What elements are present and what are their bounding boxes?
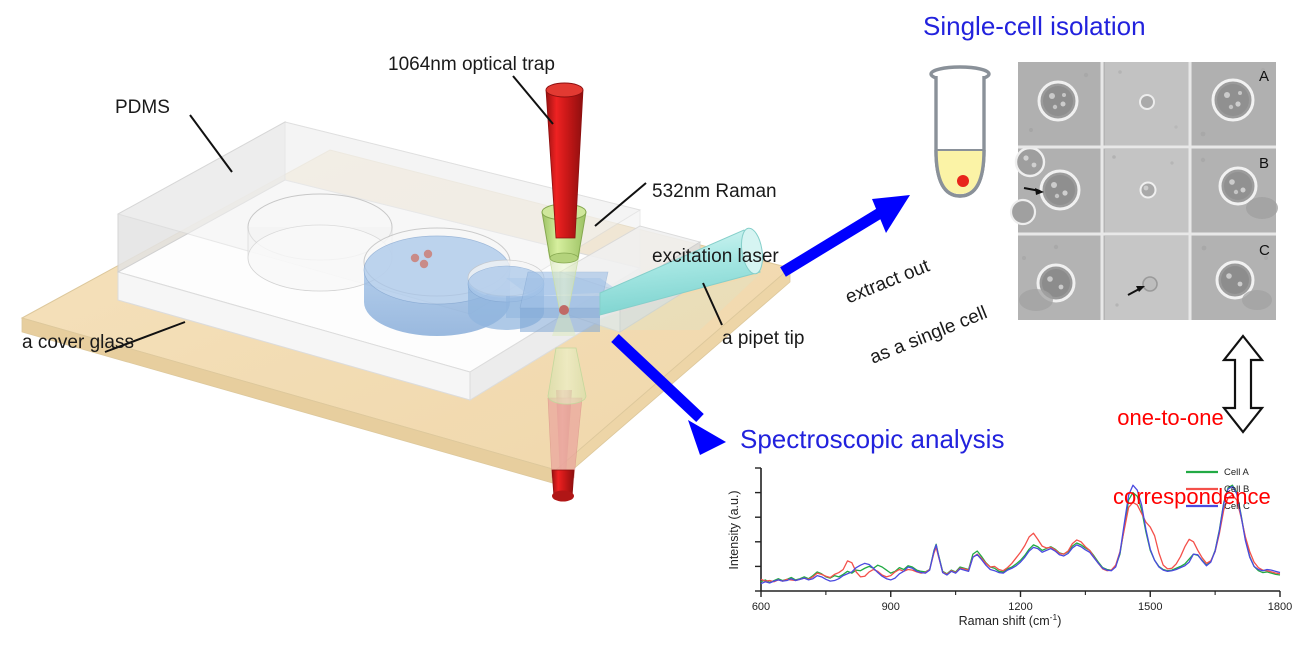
- trapped-cell-dot: [559, 305, 569, 315]
- chart-xtick-600: 600: [752, 601, 770, 613]
- micrograph-row-label-c: C: [1259, 242, 1270, 259]
- title-spectroscopic-analysis: Spectroscopic analysis: [740, 425, 1004, 455]
- chart-xtick-1200: 1200: [1008, 601, 1032, 613]
- one-to-one-arrow: [1224, 336, 1262, 432]
- chart-xlabel: Raman shift (cm-1): [959, 612, 1062, 628]
- micrograph-row-label-b: B: [1259, 155, 1269, 172]
- isolated-cell-dot: [957, 175, 969, 187]
- label-one-to-one: one-to-one correspondence: [1113, 352, 1228, 537]
- chart-xtick-900: 900: [882, 601, 900, 613]
- title-single-cell-isolation: Single-cell isolation: [923, 12, 1146, 42]
- figure-svg: 600900120015001800 Cell A Cell B Cell C …: [0, 0, 1310, 654]
- figure-canvas: 600900120015001800 Cell A Cell B Cell C …: [0, 0, 1310, 654]
- microcentrifuge-tube: [931, 67, 989, 196]
- label-trap-laser: 1064nm optical trap: [388, 54, 555, 76]
- label-pdms: PDMS: [115, 97, 170, 119]
- extract-line1: extract out: [842, 242, 966, 309]
- label-raman-line1: 532nm Raman: [652, 181, 779, 203]
- micrograph-row-label-a: A: [1259, 68, 1269, 85]
- label-cover-glass: a cover glass: [22, 332, 134, 354]
- correspondence-line2: correspondence: [1113, 484, 1228, 510]
- micrograph-grid: [1011, 62, 1278, 320]
- label-raman-line2: excitation laser: [652, 246, 779, 268]
- chart-xtick-1800: 1800: [1268, 601, 1292, 613]
- label-raman-laser: 532nm Raman excitation laser: [652, 137, 779, 290]
- label-pipet-tip: a pipet tip: [722, 328, 804, 350]
- correspondence-line1: one-to-one: [1113, 405, 1228, 431]
- lower-trap-beam: [548, 390, 582, 502]
- chart-ylabel: Intensity (a.u.): [727, 490, 741, 569]
- chart-xtick-1500: 1500: [1138, 601, 1162, 613]
